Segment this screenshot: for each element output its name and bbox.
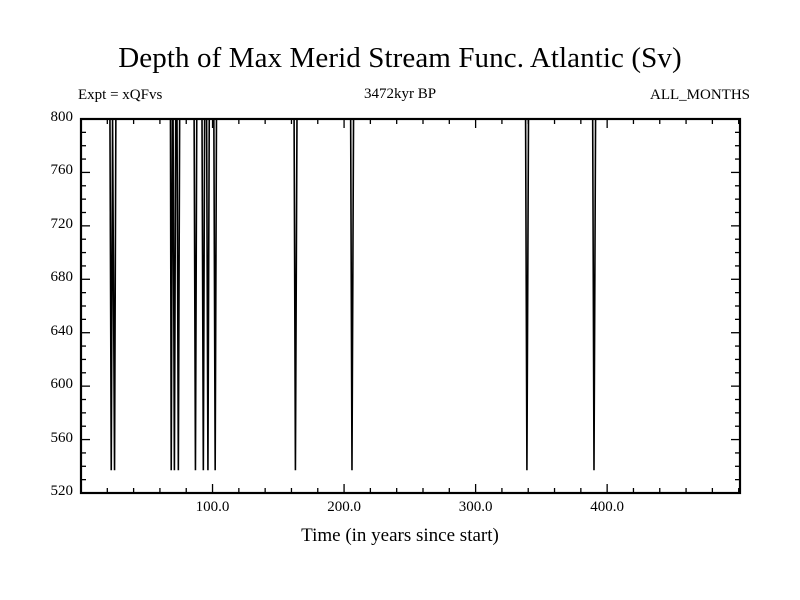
- x-tick-label: 200.0: [309, 499, 379, 516]
- y-tick-label: 520: [25, 483, 73, 500]
- y-tick-label: 560: [25, 430, 73, 447]
- data-series: [81, 119, 740, 470]
- x-tick-label: 400.0: [572, 499, 642, 516]
- y-tick-label: 680: [25, 269, 73, 286]
- figure-canvas: Depth of Max Merid Stream Func. Atlantic…: [0, 0, 800, 600]
- x-axis-title: Time (in years since start): [0, 525, 800, 547]
- y-tick-label: 760: [25, 162, 73, 179]
- x-tick-label: 300.0: [441, 499, 511, 516]
- y-tick-label: 800: [25, 109, 73, 126]
- plot-area: [0, 0, 800, 600]
- series-line-0: [81, 119, 740, 470]
- y-tick-label: 600: [25, 376, 73, 393]
- x-tick-label: 100.0: [178, 499, 248, 516]
- y-tick-label: 640: [25, 323, 73, 340]
- y-tick-label: 720: [25, 216, 73, 233]
